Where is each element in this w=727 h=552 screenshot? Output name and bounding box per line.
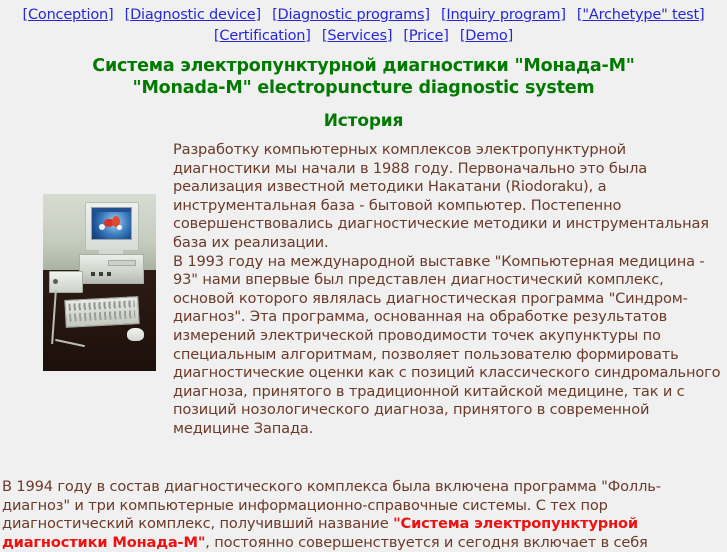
bracket-close: ] — [508, 28, 513, 44]
nav-link-label[interactable]: Conception — [28, 7, 108, 23]
photo-computer-tower — [79, 254, 144, 284]
bracket-close: ] — [108, 7, 113, 23]
nav-link-label[interactable]: Demo — [465, 28, 507, 44]
photo-keyboard-row-2 — [69, 310, 135, 321]
computer-photo — [43, 194, 156, 371]
history-paragraph-2: В 1993 году на международной выставке "К… — [173, 253, 725, 439]
history-text-fullwidth: В 1994 году в состав диагностического ко… — [2, 478, 725, 552]
history-paragraph-1: Разработку компьютерных комплексов элект… — [173, 141, 725, 253]
nav-row-2: [Certification] [Services] [Price] [Demo… — [0, 25, 727, 46]
photo-device-knob — [53, 279, 58, 284]
history-paragraph-3: В 1994 году в состав диагностического ко… — [2, 478, 725, 552]
nav-link-label[interactable]: Diagnostic programs — [278, 7, 425, 23]
photo-floppy-slot — [108, 260, 136, 266]
nav-link-label[interactable]: Services — [327, 28, 387, 44]
paragraph-3-tail: , постоянно совершенствуется и сегодня в… — [205, 534, 647, 551]
nav-link-conception[interactable]: [Conception] — [23, 7, 114, 23]
nav-link-label[interactable]: Diagnostic device — [130, 7, 255, 23]
nav-link-label[interactable]: Inquiry program — [446, 7, 560, 23]
section-heading-history: История — [0, 111, 727, 131]
nav-link-archetype-test[interactable]: ["Archetype" test] — [577, 7, 705, 23]
bracket-close: ] — [560, 7, 565, 23]
bracket-close: ] — [699, 7, 704, 23]
bracket-close: ] — [256, 7, 261, 23]
page-root: [Conception] [Diagnostic device] [Diagno… — [0, 0, 727, 545]
photo-monitor-screen — [91, 207, 132, 240]
nav-link-demo[interactable]: [Demo] — [460, 28, 513, 44]
photo-keyboard — [64, 296, 139, 328]
photo-mouse — [127, 328, 144, 341]
photo-screen-graphic-white — [99, 224, 105, 230]
nav-link-label[interactable]: "Archetype" test — [582, 7, 699, 23]
bracket-close: ] — [424, 7, 429, 23]
bracket-close: ] — [387, 28, 392, 44]
photo-keyboard-row-1 — [69, 300, 135, 310]
page-title-en: "Monada-M" electropuncture diagnostic sy… — [0, 77, 727, 99]
nav-link-diagnostic-device[interactable]: [Diagnostic device] — [125, 7, 261, 23]
photo-screen-titlebar — [92, 208, 131, 212]
nav-link-inquiry-program[interactable]: [Inquiry program] — [441, 7, 566, 23]
nav-link-label[interactable]: Price — [409, 28, 443, 44]
page-title: Система электропунктурной диагностики "М… — [0, 55, 727, 99]
page-title-ru: Система электропунктурной диагностики "М… — [0, 55, 727, 77]
nav-link-services[interactable]: [Services] — [322, 28, 392, 44]
nav-link-price[interactable]: [Price] — [403, 28, 448, 44]
nav-link-diagnostic-programs[interactable]: [Diagnostic programs] — [272, 7, 430, 23]
history-text-column: Разработку компьютерных комплексов элект… — [173, 141, 725, 439]
top-navigation: [Conception] [Diagnostic device] [Diagno… — [0, 0, 727, 46]
bracket-close: ] — [305, 28, 310, 44]
nav-link-label[interactable]: Certification — [219, 28, 305, 44]
bracket-close: ] — [443, 28, 448, 44]
photo-tower-leds — [91, 272, 113, 276]
nav-link-certification[interactable]: [Certification] — [214, 28, 311, 44]
photo-screen-graphic-dot — [117, 225, 122, 230]
nav-row-1: [Conception] [Diagnostic device] [Diagno… — [0, 4, 727, 25]
